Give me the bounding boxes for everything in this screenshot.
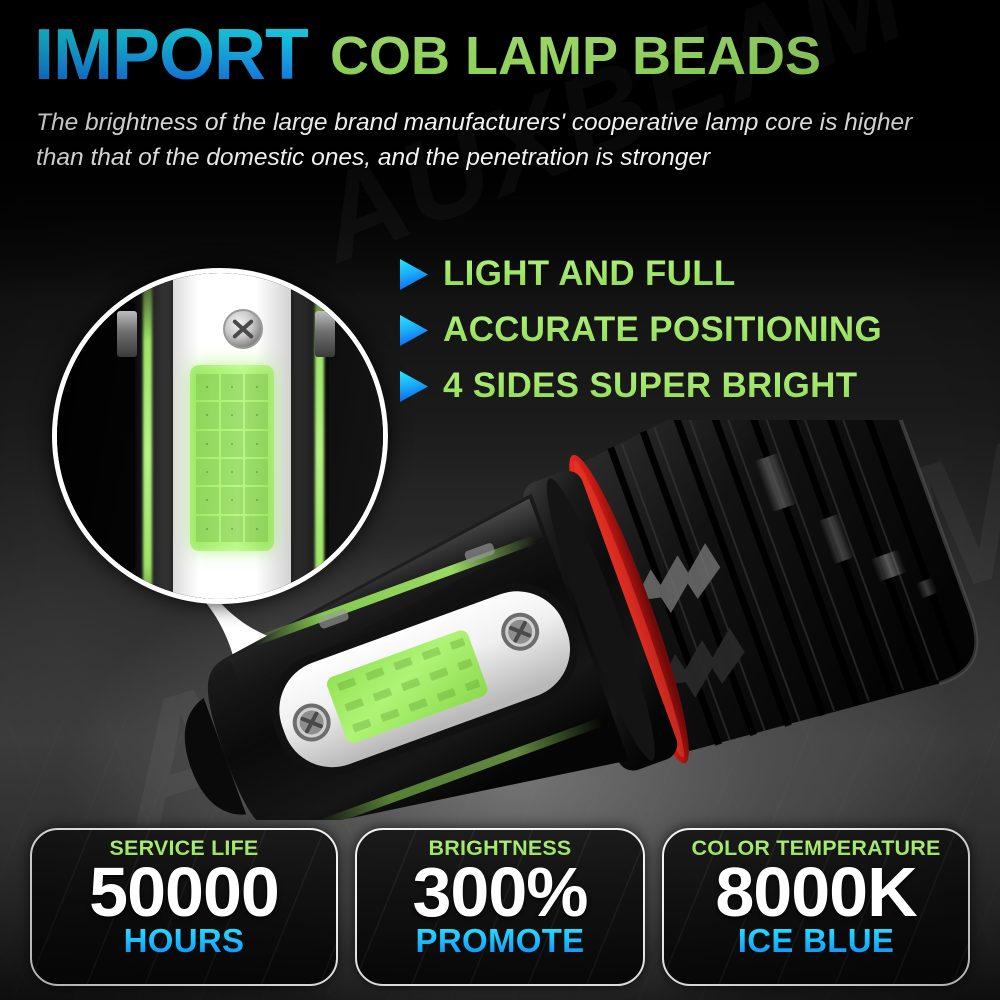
stat-card-brightness[interactable]: BRIGHTNESS 300% PROMOTE: [355, 828, 645, 986]
subtitle-text: The brightness of the large brand manufa…: [36, 106, 936, 176]
feature-list: LIGHT AND FULL ACCURATE POSITIONING 4 SI…: [398, 246, 988, 414]
feature-label: LIGHT AND FULL: [443, 254, 736, 294]
title-row: IMPORT COB LAMP BEADS: [34, 22, 821, 88]
stats-row: SERVICE LIFE 50000 HOURS BRIGHTNESS 300%…: [0, 828, 1000, 990]
feature-label: ACCURATE POSITIONING: [443, 310, 882, 350]
stat-value: 300%: [412, 859, 587, 926]
page-title-secondary: COB LAMP BEADS: [330, 29, 821, 88]
header: IMPORT COB LAMP BEADS The brightness of …: [0, 0, 1000, 200]
feature-item: ACCURATE POSITIONING: [398, 302, 988, 358]
feature-item: LIGHT AND FULL: [398, 246, 988, 302]
stat-sub-label: HOURS: [124, 924, 245, 957]
stat-sub-label: ICE BLUE: [738, 924, 894, 957]
page-title-primary: IMPORT: [34, 22, 308, 88]
stat-sub-label: PROMOTE: [416, 924, 585, 957]
led-headlight-bulb: [140, 420, 1000, 820]
product-infographic: AUXBEAM AUXBEAM IMPORT COB LAMP BEADS Th…: [0, 0, 1000, 1000]
screw-icon: [223, 309, 263, 349]
feature-item: 4 SIDES SUPER BRIGHT: [398, 358, 988, 414]
feature-label: 4 SIDES SUPER BRIGHT: [443, 366, 857, 406]
stat-card-service-life[interactable]: SERVICE LIFE 50000 HOURS: [30, 828, 338, 986]
stat-value: 50000: [89, 859, 279, 926]
stat-value: 8000K: [715, 859, 916, 926]
stat-card-color-temperature[interactable]: COLOR TEMPERATURE 8000K ICE BLUE: [662, 828, 970, 986]
